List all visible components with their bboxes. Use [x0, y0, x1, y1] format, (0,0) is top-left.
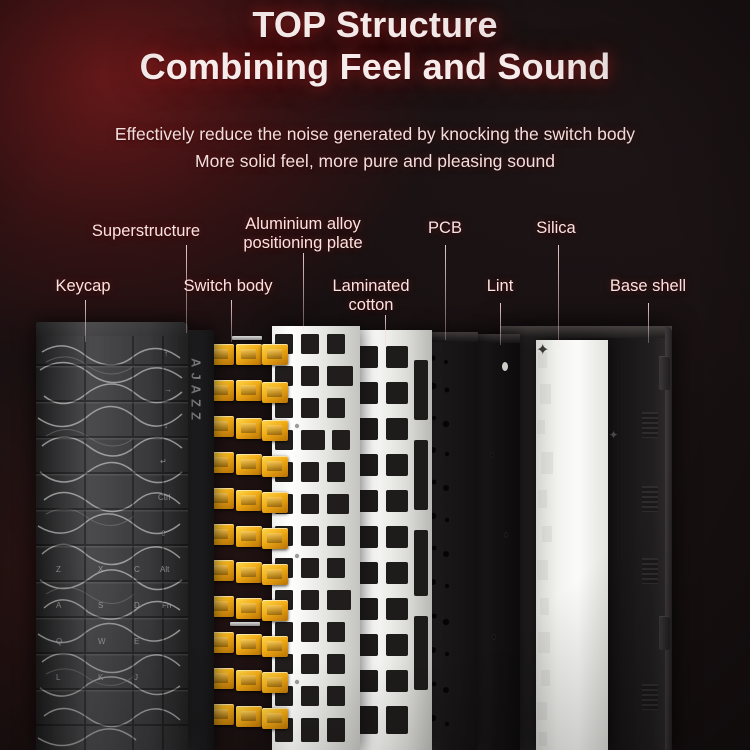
callout-label-silica: Silica	[536, 219, 575, 238]
cotton-cutouts	[352, 330, 432, 750]
switch	[236, 526, 262, 547]
switch	[236, 418, 262, 439]
callout-label-switch-body: Switch body	[184, 277, 273, 296]
svg-text:↑: ↑	[164, 349, 168, 358]
layer-silica: ✦	[536, 340, 608, 750]
switch	[262, 564, 288, 585]
base-shell-top-edge	[500, 326, 672, 338]
svg-text:Q: Q	[56, 637, 62, 646]
callout-leader-line-laminated	[385, 315, 386, 347]
switch	[262, 636, 288, 657]
base-shell-rail	[659, 356, 670, 390]
switch	[236, 634, 262, 655]
switch	[236, 454, 262, 475]
svg-text:X: X	[98, 565, 104, 574]
switch	[236, 490, 262, 511]
switch	[262, 382, 288, 403]
svg-text:Ctrl: Ctrl	[158, 493, 171, 502]
svg-text:↵: ↵	[160, 457, 167, 466]
svg-text:L: L	[56, 673, 61, 682]
callout-label-laminated: Laminated cotton	[332, 277, 409, 315]
svg-text:D: D	[134, 601, 140, 610]
lint-hole	[492, 634, 496, 640]
svg-text:C: C	[134, 565, 140, 574]
svg-text:S: S	[98, 601, 103, 610]
callout-label-pcb: PCB	[428, 219, 462, 238]
base-shell-ribs	[642, 486, 658, 512]
svg-text:A: A	[56, 601, 62, 610]
switch	[236, 706, 262, 727]
title-line-2: Combining Feel and Sound	[0, 46, 750, 88]
callout-label-keycap: Keycap	[55, 277, 110, 296]
switch	[262, 492, 288, 513]
switch	[236, 344, 262, 365]
page-subtitle: Effectively reduce the noise generated b…	[0, 121, 750, 174]
silica-texture	[536, 340, 608, 750]
callout-leader-line-aluminium-alloy	[303, 253, 304, 331]
callout-leader-line-lint	[500, 303, 501, 345]
product-infographic: ✦ ✦	[0, 0, 750, 750]
svg-text:↓: ↓	[164, 421, 168, 430]
switch	[262, 420, 288, 441]
callout-label-base-shell: Base shell	[610, 277, 686, 296]
base-shell-screw-icon: ✦	[608, 430, 619, 441]
svg-text:J: J	[134, 673, 138, 682]
layer-laminated-cotton	[352, 330, 432, 750]
svg-text:Alt: Alt	[160, 565, 170, 574]
brand-logo: AJAZZ	[189, 358, 204, 425]
svg-text:Z: Z	[56, 565, 61, 574]
switch	[236, 670, 262, 691]
base-shell-ribs	[642, 684, 658, 710]
switch	[262, 672, 288, 693]
svg-text:W: W	[98, 637, 106, 646]
svg-text:K: K	[98, 673, 104, 682]
subtitle-line-2: More solid feel, more pure and pleasing …	[0, 148, 750, 175]
lint-hole	[502, 362, 508, 371]
callout-leader-line-keycap	[85, 300, 86, 342]
subtitle-line-1: Effectively reduce the noise generated b…	[0, 121, 750, 148]
layer-switch-body	[206, 330, 288, 750]
layer-keycap: ↑→ ↓↵ Ctrl⇧ AltFn ZA QX SW CD EL KJ	[36, 322, 188, 750]
svg-text:⇧: ⇧	[160, 529, 167, 538]
layer-pcb	[424, 332, 478, 750]
switch	[262, 456, 288, 477]
lint-hole	[490, 452, 494, 458]
callout-label-lint: Lint	[487, 277, 514, 296]
callout-leader-line-silica	[558, 245, 559, 348]
callout-leader-line-base-shell	[648, 303, 649, 343]
base-shell-ribs	[642, 558, 658, 584]
base-shell-rail	[659, 616, 670, 650]
page-title: TOP Structure Combining Feel and Sound	[0, 4, 750, 88]
pcb-hole-pattern	[424, 332, 478, 750]
callout-leader-line-pcb	[445, 245, 446, 340]
svg-text:Fn: Fn	[162, 601, 171, 610]
svg-text:E: E	[134, 637, 139, 646]
switch	[236, 598, 262, 619]
callout-leader-line-switch-body	[231, 300, 232, 342]
switch	[262, 528, 288, 549]
switch	[262, 600, 288, 621]
title-line-1: TOP Structure	[252, 4, 497, 45]
exploded-keyboard-diagram: ✦ ✦	[0, 0, 750, 750]
switch	[262, 344, 288, 365]
svg-text:→: →	[164, 385, 172, 394]
callout-label-superstructure: Superstructure	[92, 222, 200, 241]
lint-hole	[504, 532, 508, 538]
switch	[236, 380, 262, 401]
switch	[262, 708, 288, 729]
callout-label-aluminium-alloy: Aluminium alloy positioning plate	[243, 215, 362, 253]
keycap-topographic-pattern: ↑→ ↓↵ Ctrl⇧ AltFn ZA QX SW CD EL KJ	[36, 322, 188, 750]
base-shell-ribs	[642, 412, 658, 438]
switch	[236, 562, 262, 583]
